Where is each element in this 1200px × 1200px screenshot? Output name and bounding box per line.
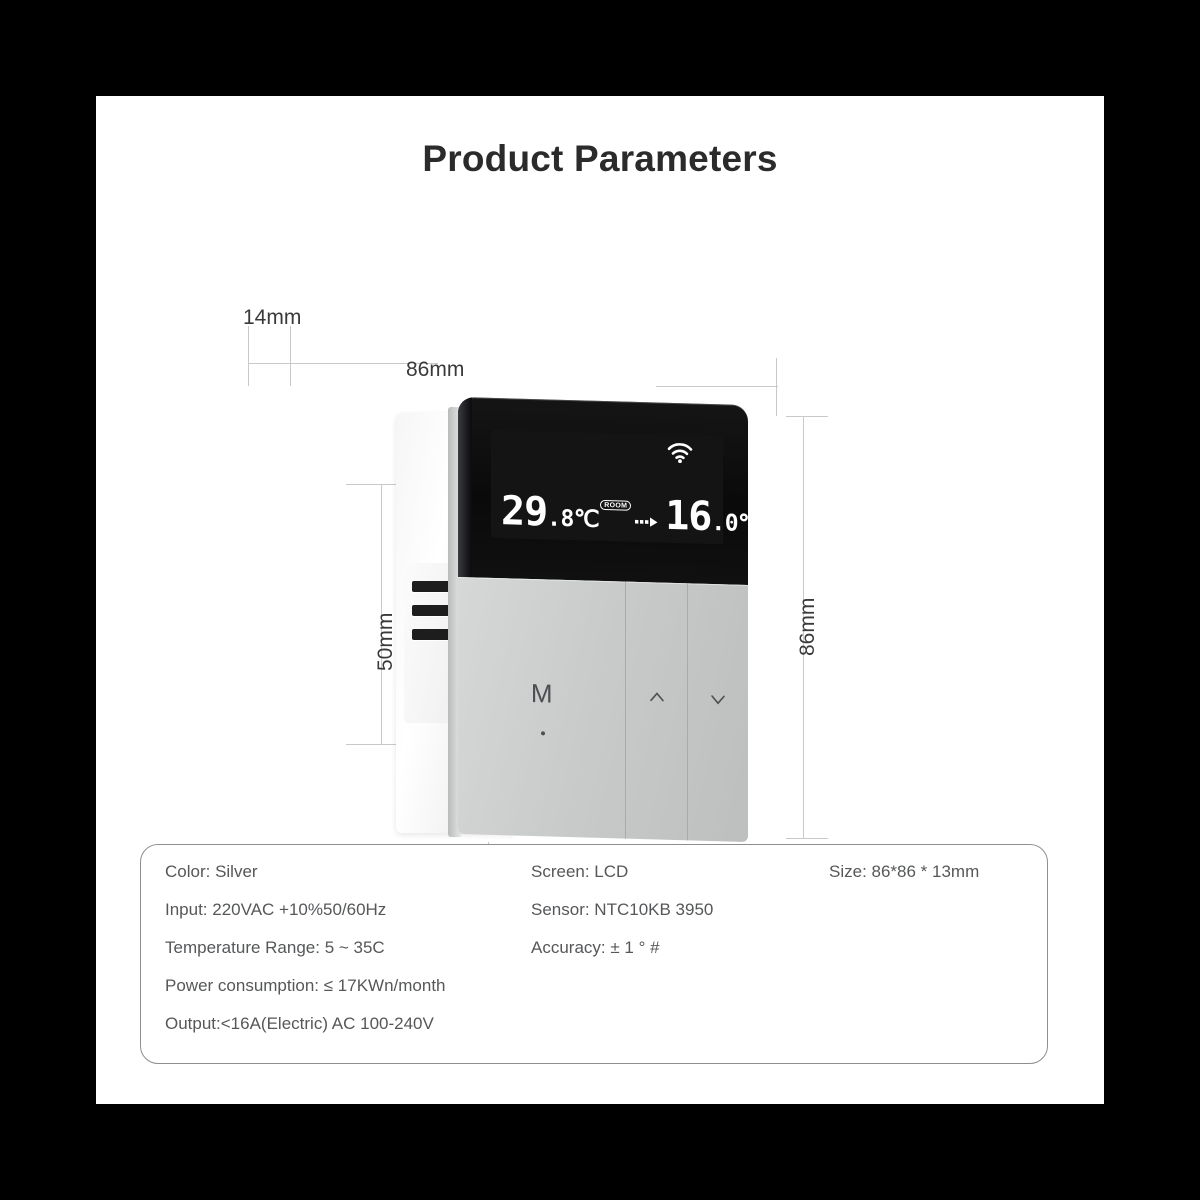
arrow-right-icon [635,516,661,529]
parameter-row: Accuracy: ± 1 ° # [531,939,713,956]
set-temp-decimal: .0 [711,513,738,535]
parameter-row: Size: 86*86 * 13mm [829,863,979,880]
set-temp-unit: ℃ [738,514,748,536]
mode-button-dot [541,731,545,735]
parameters-box: Color: Silver Input: 220VAC +10%50/60Hz … [140,844,1048,1064]
mode-button[interactable]: M [458,577,625,839]
parameter-row: Color: Silver [165,863,446,880]
page-title: Product Parameters [96,138,1104,180]
thermostat-faceplate: 29 .8 ℃ ROOM [458,397,748,842]
lcd-screen: 29 .8 ℃ ROOM [491,430,723,544]
room-temperature-group: 29 .8 ℃ ROOM [501,495,631,531]
parameter-row: Input: 220VAC +10%50/60Hz [165,901,446,918]
parameters-column-left: Color: Silver Input: 220VAC +10%50/60Hz … [165,863,446,1053]
chevron-up-icon [649,689,665,705]
thermostat-device: 29 .8 ℃ ROOM [396,401,786,846]
parameters-column-middle: Screen: LCD Sensor: NTC10KB 3950 Accurac… [531,863,713,977]
room-badge: ROOM [600,500,631,511]
glass-left-bevel [458,397,472,577]
dim-label-86mm-height: 86mm [796,598,820,656]
parameter-row: Screen: LCD [531,863,713,880]
page-frame: Product Parameters 14mm 86mm 50mm 86mm [0,0,1200,1200]
parameter-row: Output:<16A(Electric) AC 100-240V [165,1015,446,1032]
parameter-row: Power consumption: ≤ 17KWn/month [165,977,446,994]
chevron-down-icon [710,690,726,706]
parameter-row: Temperature Range: 5 ~ 35C [165,939,446,956]
room-temp-unit: ℃ [574,509,599,531]
glass-front: 29 .8 ℃ ROOM [458,397,748,585]
room-temp-decimal: .8 [547,508,574,530]
dim-ext-line-14mm-right [290,326,291,386]
dim-label-14mm: 14mm [243,306,301,330]
set-temperature-group: 16 .0 ℃ SET [665,500,748,536]
product-sheet: Product Parameters 14mm 86mm 50mm 86mm [96,96,1104,1104]
product-diagram: 14mm 86mm 50mm 86mm 40mm [96,216,1104,836]
wifi-icon [667,443,693,469]
dim-ext-line-86mm-right-top [786,416,828,417]
dim-label-86mm-width: 86mm [406,358,464,382]
parameters-column-right: Size: 86*86 * 13mm [829,863,979,901]
touch-button-panel: M [458,577,748,842]
dim-ext-line-14mm-left [248,326,249,386]
dim-ext-line-86mm-right-bottom [786,838,828,839]
dim-label-50mm: 50mm [374,613,398,671]
parameter-row: Sensor: NTC10KB 3950 [531,901,713,918]
mode-button-label: M [531,678,553,710]
room-temp-integer: 29 [501,495,547,529]
decrease-temperature-button[interactable] [687,583,748,842]
set-temp-integer: 16 [665,500,711,534]
increase-temperature-button[interactable] [625,582,687,841]
dim-line-86mm-top [656,386,778,387]
lcd-readout: 29 .8 ℃ ROOM [501,472,713,534]
